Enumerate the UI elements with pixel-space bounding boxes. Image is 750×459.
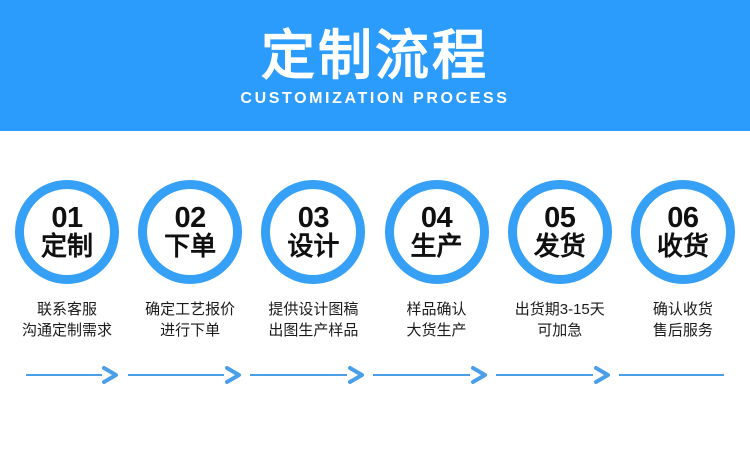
header-banner: 定制流程 CUSTOMIZATION PROCESS — [0, 0, 750, 131]
process-steps-row: 01 定制 联系客服 沟通定制需求 02 下单 确定工艺报价 进行下单 03 设… — [0, 131, 750, 361]
step-description-line1: 确认收货 — [653, 299, 713, 320]
step-description-line1: 确定工艺报价 — [145, 299, 235, 320]
step-circle-02: 02 下单 — [138, 180, 242, 284]
step-number-06: 06 — [667, 203, 698, 233]
step-circle-06: 06 收货 — [631, 180, 735, 284]
step-label-03: 设计 — [287, 232, 339, 261]
step-label-05: 发货 — [534, 232, 586, 261]
step-circle-05: 05 发货 — [508, 180, 612, 284]
step-description-line2: 沟通定制需求 — [22, 320, 112, 341]
step-circle-03: 03 设计 — [261, 180, 365, 284]
process-step-01: 01 定制 联系客服 沟通定制需求 — [8, 131, 126, 341]
connector-svg — [0, 365, 750, 385]
step-label-02: 下单 — [164, 232, 216, 261]
process-flow-connector — [0, 365, 750, 385]
step-description-line1: 出货期3-15天 — [515, 299, 605, 320]
step-description-line1: 样品确认 — [407, 299, 467, 320]
step-number-01: 01 — [51, 203, 82, 233]
step-description-line2: 出图生产样品 — [268, 320, 358, 341]
step-circle-04: 04 生产 — [385, 180, 489, 284]
process-step-03: 03 设计 提供设计图稿 出图生产样品 — [254, 131, 372, 341]
step-description-line1: 联系客服 — [22, 299, 112, 320]
process-step-05: 05 发货 出货期3-15天 可加急 — [501, 131, 619, 341]
step-circle-01: 01 定制 — [15, 180, 119, 284]
step-number-05: 05 — [544, 203, 575, 233]
process-step-04: 04 生产 样品确认 大货生产 — [378, 131, 496, 341]
page-title: 定制流程 — [261, 26, 489, 86]
step-label-06: 收货 — [657, 232, 709, 261]
step-number-02: 02 — [175, 203, 206, 233]
step-number-03: 03 — [298, 203, 329, 233]
step-description-02: 确定工艺报价 进行下单 — [145, 299, 235, 341]
step-description-line2: 可加急 — [515, 320, 605, 341]
page-subtitle: CUSTOMIZATION PROCESS — [240, 89, 509, 109]
step-description-05: 出货期3-15天 可加急 — [515, 299, 605, 341]
customization-process-banner: 定制流程 CUSTOMIZATION PROCESS 01 定制 联系客服 沟通… — [0, 0, 750, 459]
step-description-01: 联系客服 沟通定制需求 — [22, 299, 112, 341]
step-number-04: 04 — [421, 203, 452, 233]
step-description-line2: 进行下单 — [145, 320, 235, 341]
step-label-01: 定制 — [41, 232, 93, 261]
step-description-03: 提供设计图稿 出图生产样品 — [268, 299, 358, 341]
step-label-04: 生产 — [411, 232, 463, 261]
process-step-02: 02 下单 确定工艺报价 进行下单 — [131, 131, 249, 341]
step-description-04: 样品确认 大货生产 — [407, 299, 467, 341]
step-description-line2: 售后服务 — [653, 320, 713, 341]
process-step-06: 06 收货 确认收货 售后服务 — [624, 131, 742, 341]
step-description-06: 确认收货 售后服务 — [653, 299, 713, 341]
step-description-line2: 大货生产 — [407, 320, 467, 341]
step-description-line1: 提供设计图稿 — [268, 299, 358, 320]
